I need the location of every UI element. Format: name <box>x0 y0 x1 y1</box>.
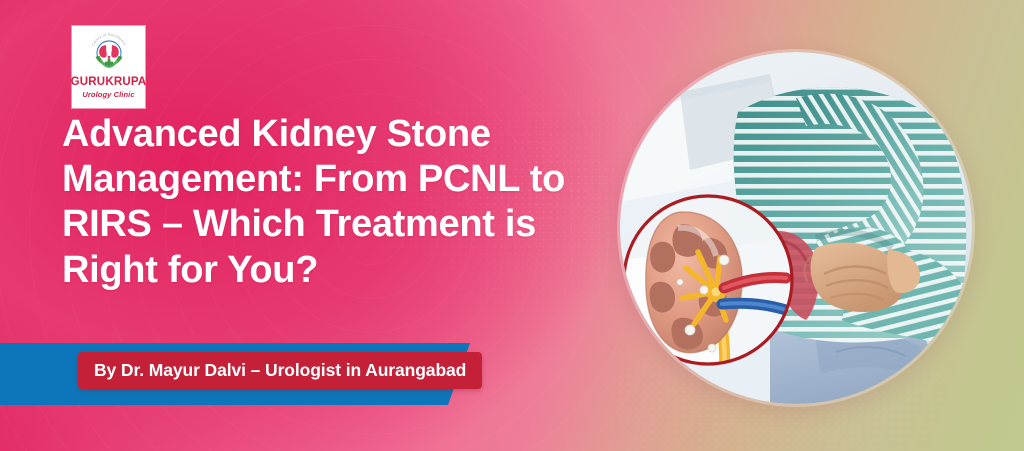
hero-photo <box>620 52 972 404</box>
logo-wordmark: GURUKRUPA <box>71 77 147 89</box>
page-title: Advanced Kidney Stone Management: From P… <box>62 112 622 293</box>
svg-text:Centre of Excellence: Centre of Excellence <box>91 33 127 47</box>
back-pain-kidney-illustration <box>620 52 972 404</box>
clinic-logo[interactable]: Centre of Excellence GURUKRUPA Urology C… <box>72 26 145 108</box>
author-badge-label: By Dr. Mayur Dalvi – Urologist in Aurang… <box>94 360 466 381</box>
kidney-emblem-icon: Centre of Excellence <box>84 28 134 76</box>
author-badge: By Dr. Mayur Dalvi – Urologist in Aurang… <box>78 352 482 389</box>
blog-banner: Centre of Excellence GURUKRUPA Urology C… <box>0 0 1024 451</box>
logo-tagline: Urology Clinic <box>82 91 134 99</box>
